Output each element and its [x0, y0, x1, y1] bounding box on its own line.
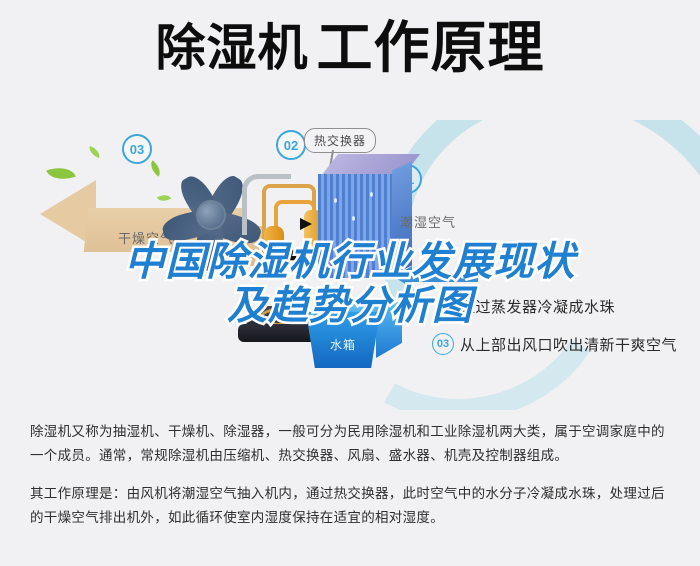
- step-number-03: 03: [432, 333, 454, 355]
- humid-air-label: 潮湿空气: [400, 212, 456, 231]
- heat-exchanger-callout: 热交换器: [304, 128, 376, 153]
- leaf-icon: [87, 146, 102, 158]
- step-list: 02 经过蒸发器冷凝成水珠 03 从上部出风口吹出清新干爽空气: [432, 295, 700, 371]
- infographic-page: 除湿机工作原理 干燥空气 03 02 01 热交换器: [0, 0, 700, 566]
- step-text-02: 经过蒸发器冷凝成水珠: [460, 296, 615, 317]
- paragraph-2: 其工作原理是：由风机将潮湿空气抽入机内，通过热交换器，此时空气中的水分子冷凝成水…: [30, 482, 676, 530]
- step-text-03: 从上部出风口吹出清新干爽空气: [460, 334, 677, 355]
- title-part-2: 工作原理: [317, 18, 545, 78]
- title-part-1: 除湿机: [156, 18, 309, 78]
- flow-arrow-right-icon: [300, 218, 312, 230]
- water-tank-label: 水箱: [330, 336, 356, 353]
- step-row-02: 02 经过蒸发器冷凝成水珠: [432, 295, 700, 317]
- body-copy: 除湿机又称为抽湿机、干燥机、除湿器，一般可分为民用除湿机和工业除湿机两大类，属于…: [30, 420, 676, 544]
- step-row-03: 03 从上部出风口吹出清新干爽空气: [432, 333, 700, 355]
- page-title: 除湿机工作原理: [0, 18, 700, 78]
- flow-arrow-up-icon: [286, 248, 298, 260]
- marker-02: 02: [276, 130, 306, 160]
- marker-03: 03: [122, 134, 152, 164]
- inbound-air-arrow-icon: [394, 270, 478, 284]
- paragraph-1: 除湿机又称为抽湿机、干燥机、除湿器，一般可分为民用除湿机和工业除湿机两大类，属于…: [30, 420, 676, 468]
